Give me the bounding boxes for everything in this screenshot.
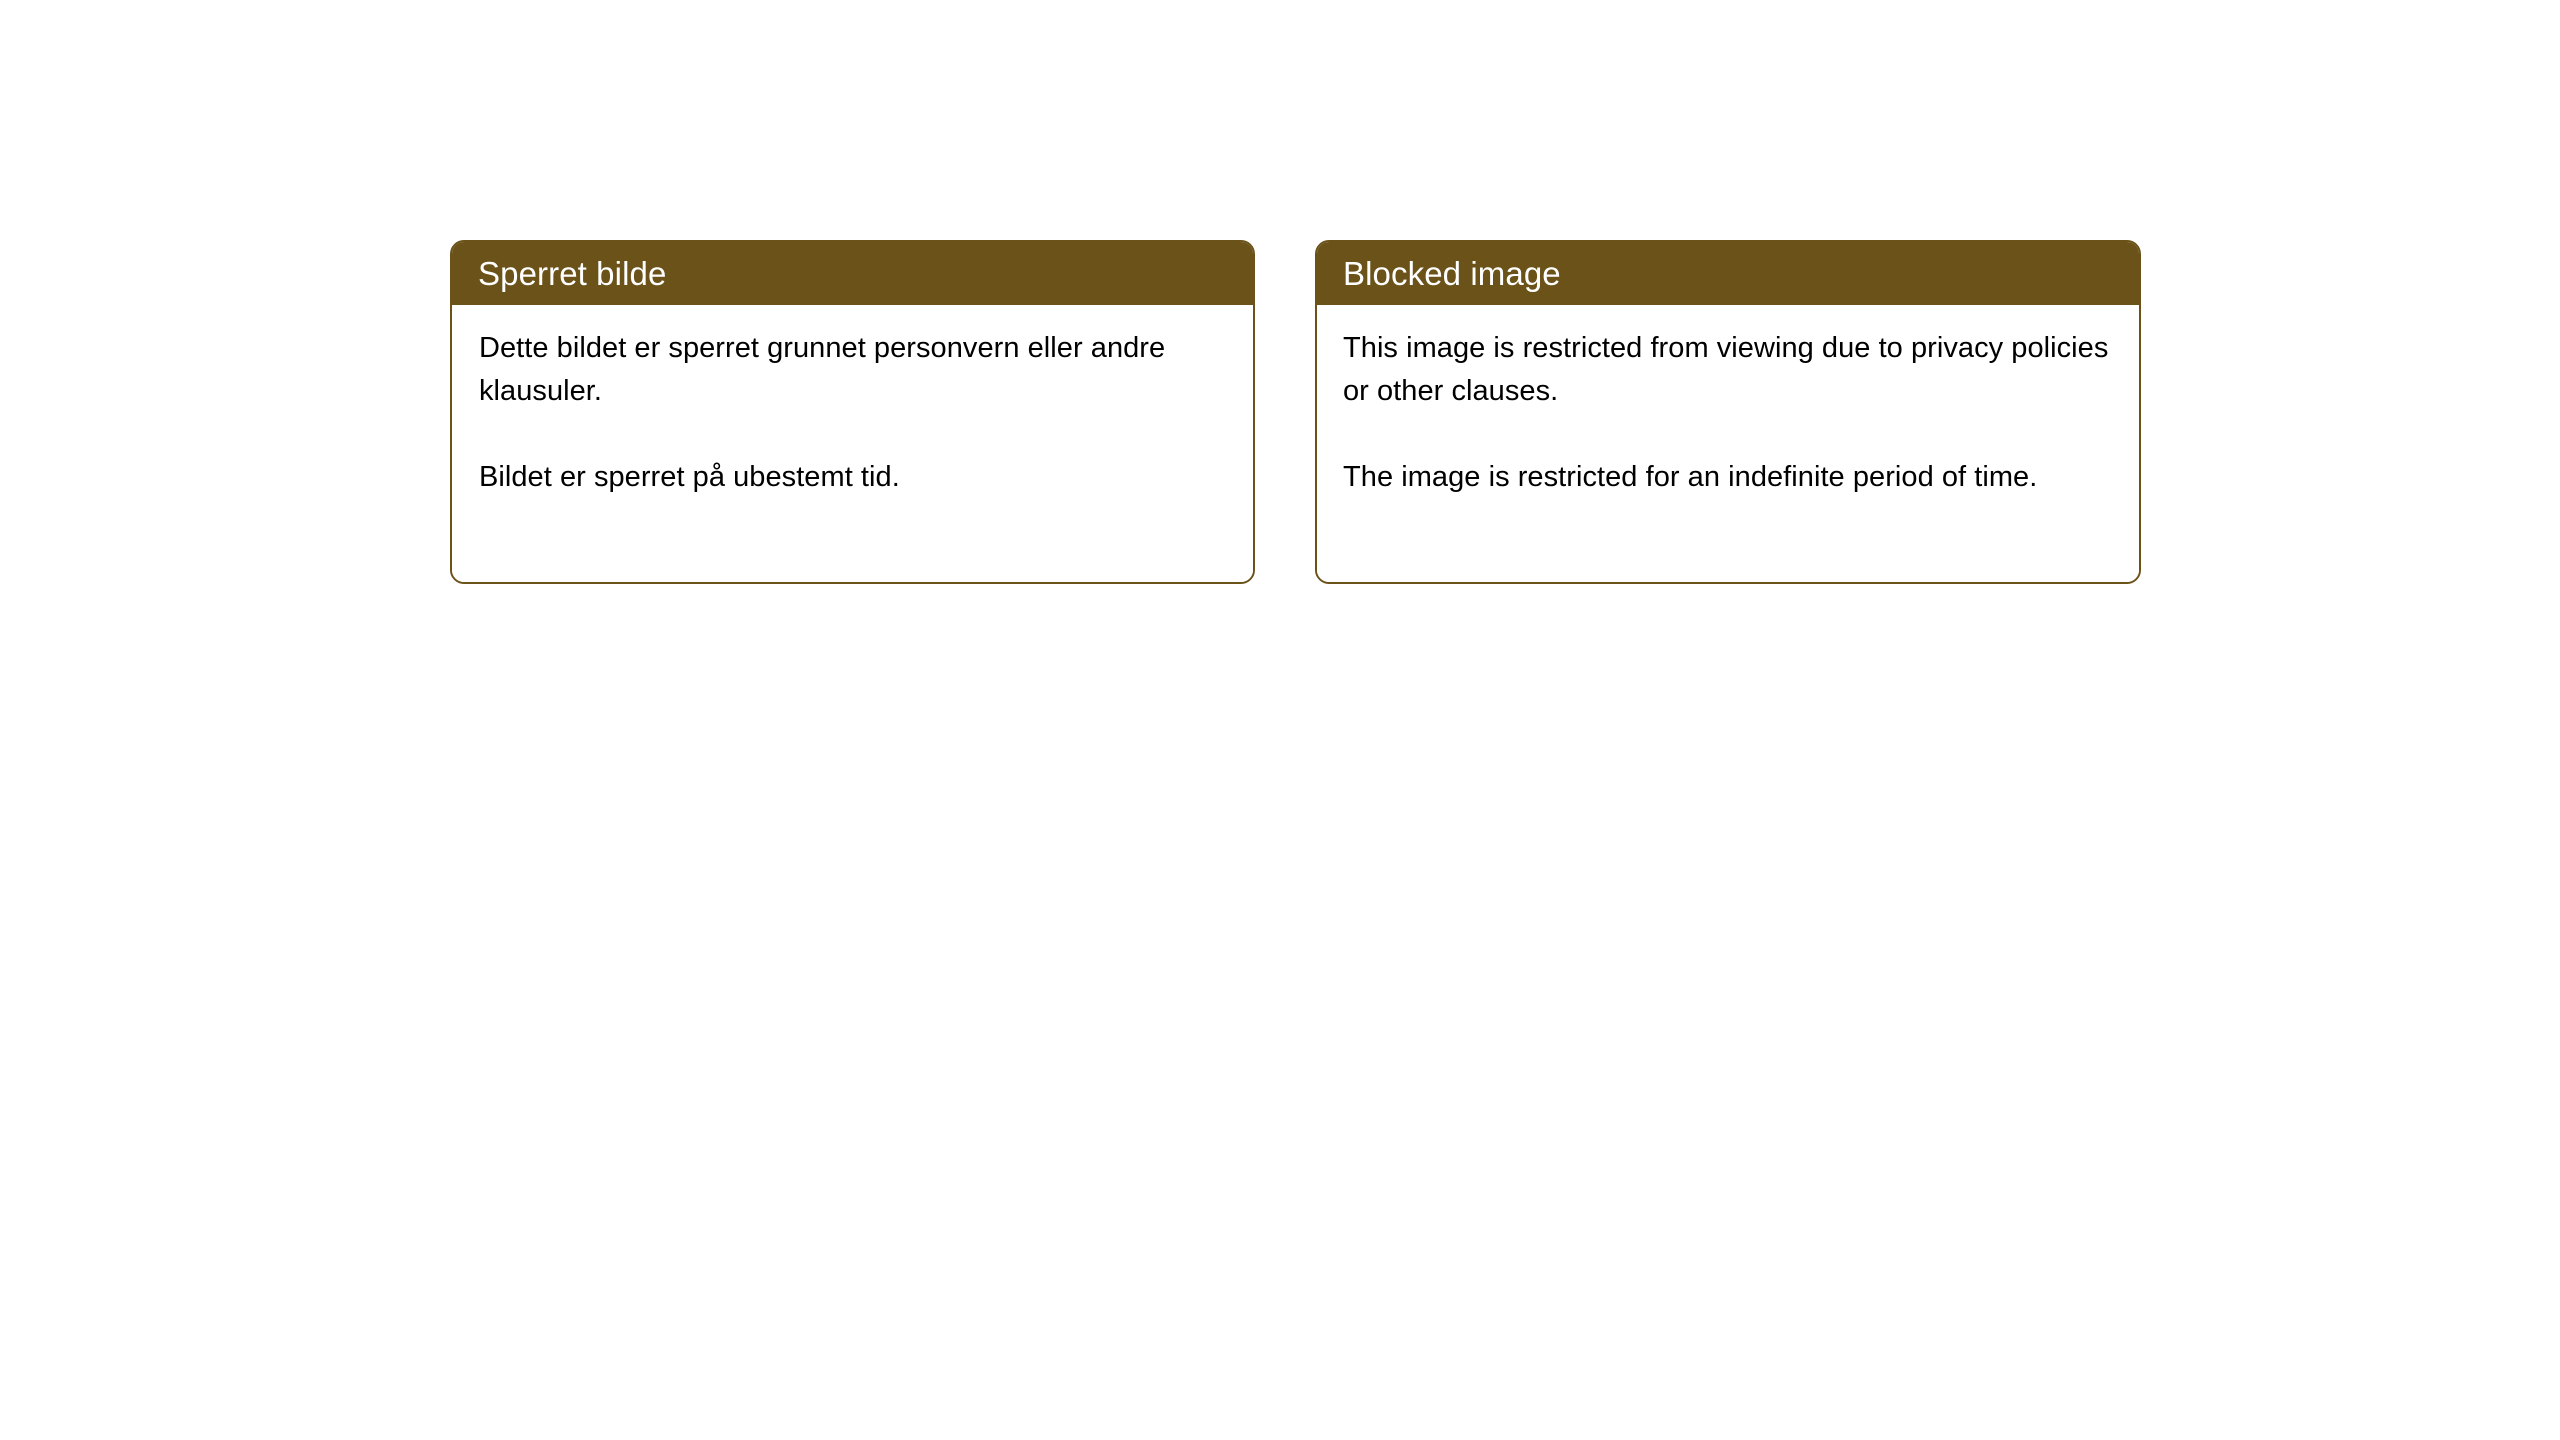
- card-title-norwegian: Sperret bilde: [478, 257, 666, 290]
- blocked-image-notice-card-norwegian: Sperret bilde Dette bildet er sperret gr…: [450, 240, 1255, 584]
- card-title-english: Blocked image: [1343, 257, 1561, 290]
- card-header-english: Blocked image: [1317, 242, 2139, 305]
- card-body-norwegian: Dette bildet er sperret grunnet personve…: [452, 305, 1253, 582]
- page-root: Sperret bilde Dette bildet er sperret gr…: [0, 0, 2560, 1440]
- blocked-image-notice-card-english: Blocked image This image is restricted f…: [1315, 240, 2141, 584]
- card-body-english: This image is restricted from viewing du…: [1317, 305, 2139, 582]
- card-paragraph-primary-norwegian: Dette bildet er sperret grunnet personve…: [479, 327, 1229, 413]
- card-paragraph-secondary-english: The image is restricted for an indefinit…: [1343, 456, 2119, 499]
- card-paragraph-secondary-norwegian: Bildet er sperret på ubestemt tid.: [479, 456, 1229, 499]
- card-header-norwegian: Sperret bilde: [452, 242, 1253, 305]
- card-paragraph-primary-english: This image is restricted from viewing du…: [1343, 327, 2119, 413]
